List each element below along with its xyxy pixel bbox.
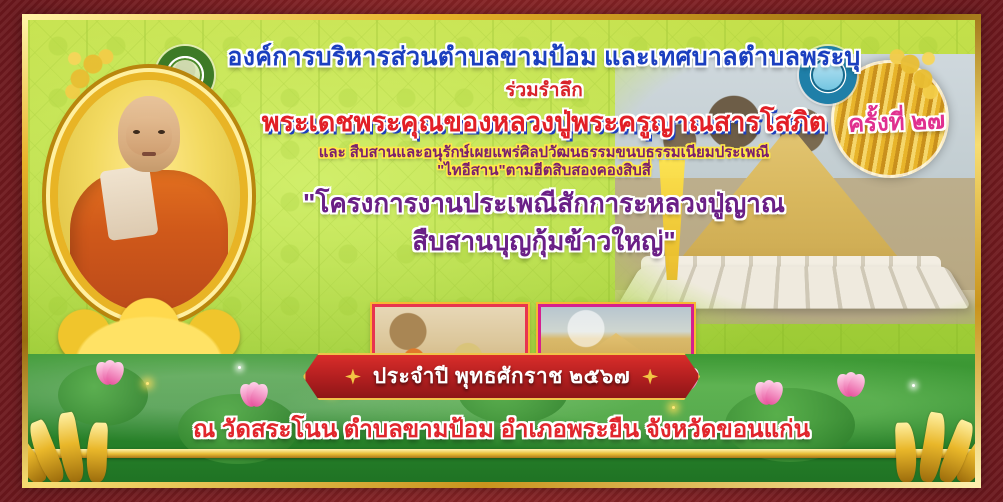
diamond-ornament-icon — [345, 369, 361, 385]
gold-divider-bar — [28, 449, 975, 458]
sparkle — [146, 382, 149, 385]
year-label: ประจำปี พุทธศักราช ๒๕๖๗ — [373, 360, 630, 393]
monk-face — [126, 116, 172, 156]
sparkle — [238, 366, 241, 369]
purpose-line-1: และ สืบสานและอนุรักษ์เผยแพร่ศิลปวัฒนธรรม… — [224, 144, 864, 163]
sparkle — [912, 384, 915, 387]
monk-shoulder-cloth — [99, 165, 158, 241]
header-text-block: องค์การบริหารส่วนตำบลขามป้อม และเทศบาลตำ… — [224, 44, 864, 257]
monk-mouth — [142, 152, 156, 156]
lotus-flower — [234, 378, 274, 406]
commemorate-label: ร่วมรำลึก — [224, 75, 864, 105]
project-line-1: "โครงการงานประเพณีสักการะหลวงปู่ญาณ — [224, 188, 864, 219]
diamond-ornament-icon — [642, 369, 658, 385]
banner-body: หลวงปู่พระครูญาณสารโสภิต อดีต เจ้าคณะอำเ… — [28, 20, 975, 482]
monk-portrait-photo — [58, 80, 240, 312]
event-banner: หลวงปู่พระครูญาณสารโสภิต อดีต เจ้าคณะอำเ… — [0, 0, 1003, 502]
lotus-flower — [90, 356, 130, 384]
purpose-line-2: "ไทอีสาน"ตามฮีตสิบสองคองสิบสี่ — [224, 162, 864, 181]
gold-kanok-ornament-under-portrait — [34, 290, 264, 364]
venue-line: ณ วัดสระโนน ตำบลขามป้อม อำเภอพระยืน จังห… — [28, 409, 975, 448]
lotus-flower — [749, 376, 789, 404]
project-line-2: สืบสานบุญกุ้มข้าวใหญ่" — [224, 226, 864, 257]
lotus-flower — [831, 368, 871, 396]
year-ribbon-banner: ประจำปี พุทธศักราช ๒๕๖๗ — [303, 353, 700, 400]
honoree-line: พระเดชพระคุณของหลวงปู่พระครูญาณสารโสภิต — [224, 107, 864, 138]
monk-eye-left — [133, 130, 140, 134]
organizer-line: องค์การบริหารส่วนตำบลขามป้อม และเทศบาลตำ… — [224, 44, 864, 72]
edition-badge: ครั้งที่ ๒๗ — [847, 100, 945, 142]
monk-eye-right — [158, 130, 165, 134]
